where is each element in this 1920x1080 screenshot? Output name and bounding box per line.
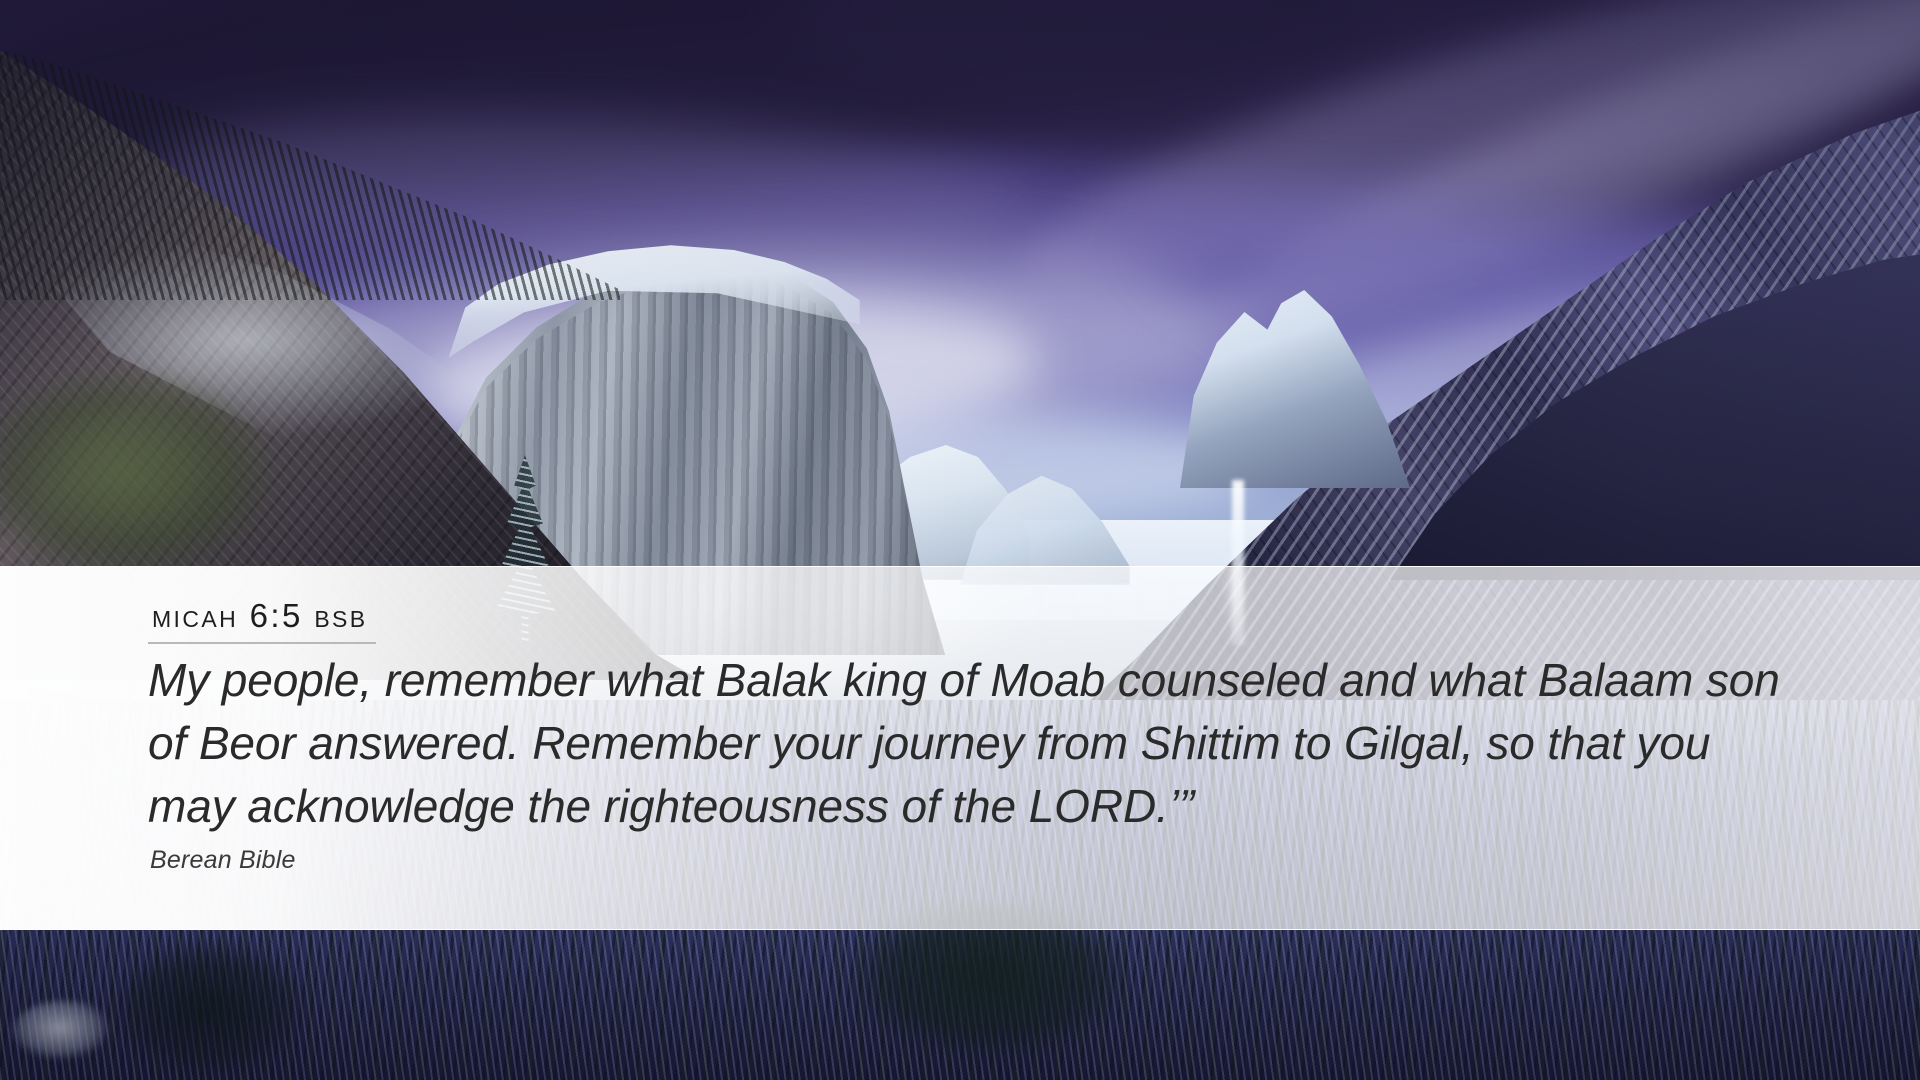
snow-clump bbox=[10, 1000, 120, 1070]
verse-text: My people, remember what Balak king of M… bbox=[148, 649, 1808, 838]
verse-reference: Micah 6:5 BSB bbox=[148, 597, 376, 644]
verse-image-wallpaper: Micah 6:5 BSB My people, remember what B… bbox=[0, 0, 1920, 1080]
verse-overlay-band: Micah 6:5 BSB My people, remember what B… bbox=[0, 566, 1920, 930]
verse-attribution: Berean Bible bbox=[150, 846, 296, 875]
dark-fir-cluster bbox=[90, 940, 330, 1080]
verse-content: Micah 6:5 BSB My people, remember what B… bbox=[148, 567, 1888, 929]
